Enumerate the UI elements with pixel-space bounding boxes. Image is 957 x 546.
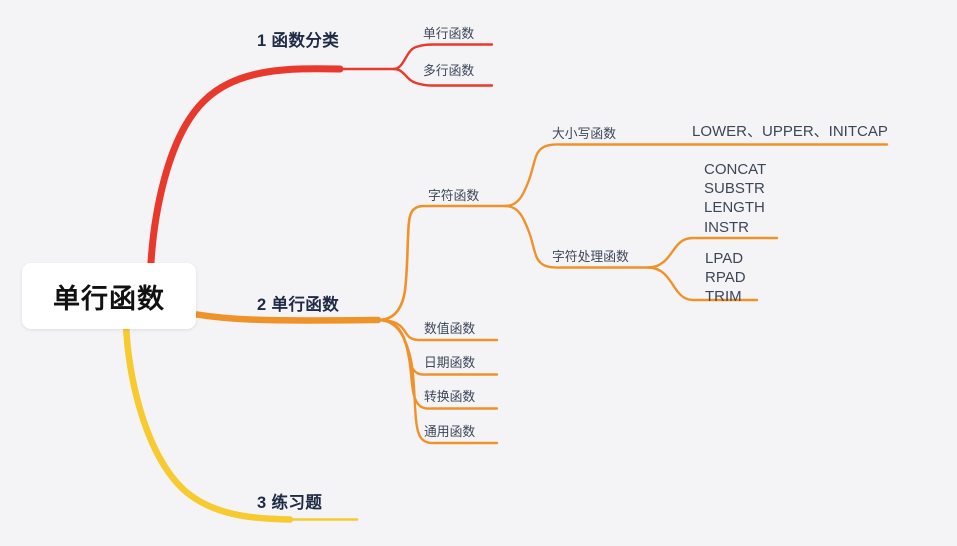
- connector-char-fn: [378, 206, 505, 320]
- node-char-process-fn[interactable]: 字符处理函数: [552, 249, 629, 265]
- node-char-fn[interactable]: 字符函数: [428, 188, 479, 204]
- node-date-fn[interactable]: 日期函数: [424, 355, 475, 371]
- root-node[interactable]: 单行函数: [22, 263, 196, 329]
- branch-label-single-row-function[interactable]: 2 单行函数: [257, 295, 339, 315]
- node-numeric-fn[interactable]: 数值函数: [424, 321, 475, 337]
- trunk-yellow: [126, 324, 290, 520]
- node-convert-fn[interactable]: 转换函数: [424, 389, 475, 405]
- root-node-label: 单行函数: [53, 277, 165, 316]
- trunk-red: [150, 69, 340, 282]
- mindmap-canvas: 单行函数 1 函数分类 2 单行函数 3 练习题 单行函数 多行函数 字符函数 …: [0, 0, 957, 546]
- branch-label-function-classification[interactable]: 1 函数分类: [257, 31, 339, 51]
- node-char-process-list-2[interactable]: LPAD RPAD TRIM: [705, 249, 746, 307]
- connector-case-fn: [505, 144, 648, 206]
- node-case-fn[interactable]: 大小写函数: [552, 126, 616, 142]
- branch-label-exercises[interactable]: 3 练习题: [257, 493, 322, 513]
- node-single-row-fn[interactable]: 单行函数: [423, 26, 474, 42]
- node-char-process-list-1[interactable]: CONCAT SUBSTR LENGTH INSTR: [704, 160, 766, 237]
- node-case-fn-list[interactable]: LOWER、UPPER、INITCAP: [692, 123, 888, 141]
- node-multi-row-fn[interactable]: 多行函数: [423, 63, 474, 79]
- node-general-fn[interactable]: 通用函数: [424, 424, 475, 440]
